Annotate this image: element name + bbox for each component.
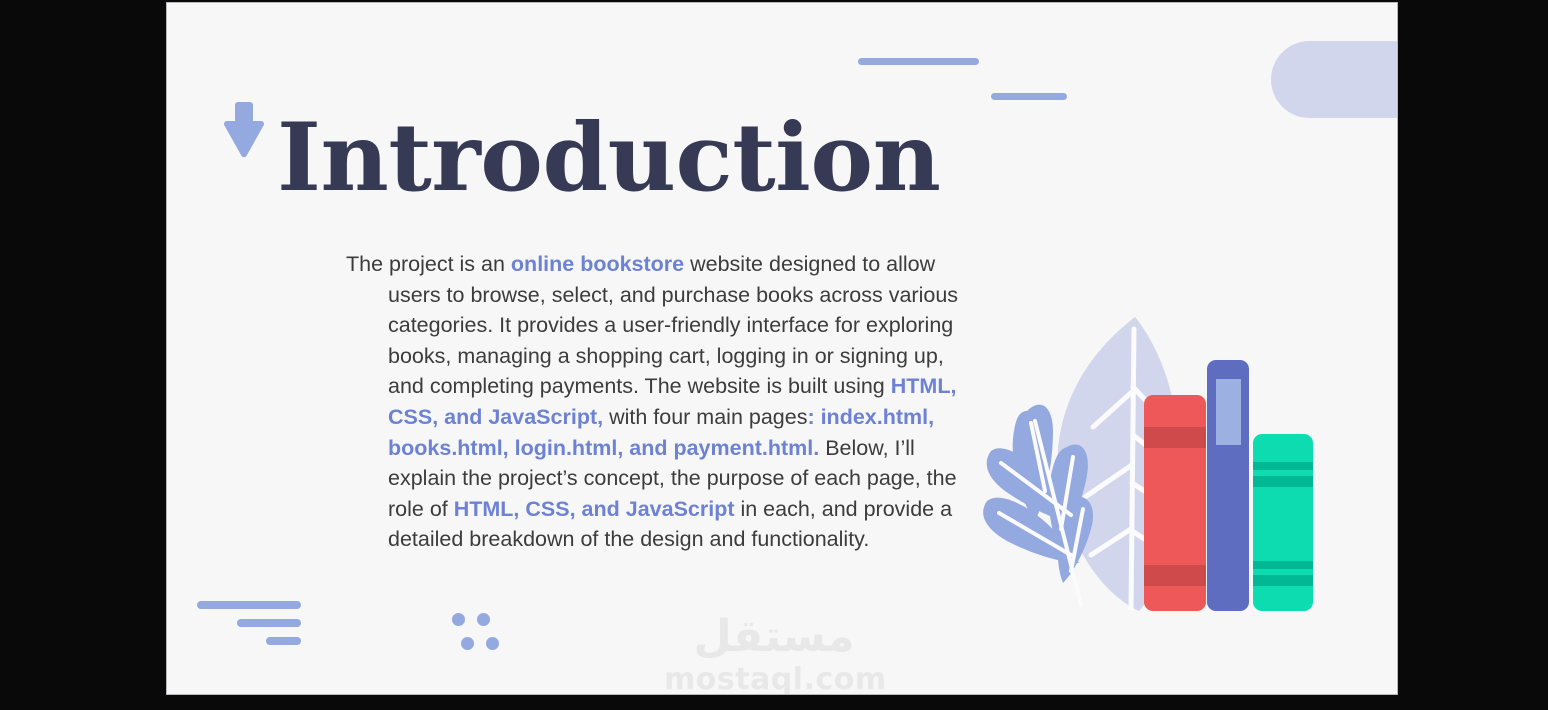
intro-body-text: The project is an online bookstore websi… [346,249,964,555]
dot-icon [486,637,499,650]
watermark-domain-text: mostaql.com [664,663,884,695]
decorative-line-top-right [991,93,1067,100]
page-title: Introduction [277,111,940,205]
dot-icon [461,637,474,650]
slide-card: Introduction The project is an online bo… [166,2,1398,695]
intro-body-highlight: online bookstore [511,252,684,276]
decorative-line [197,601,301,609]
intro-body-segment: The project is an [346,252,511,276]
watermark: مستقل mostaql.com [664,611,884,695]
dot-icon [452,613,465,626]
arrow-down-icon [222,99,266,161]
red-book-shape [1144,395,1206,611]
screen-root: Introduction The project is an online bo… [0,0,1548,710]
decorative-line [237,619,301,627]
dot-icon [477,613,490,626]
decorative-pill-shape [1271,41,1398,118]
decorative-lines-bottom-left [181,601,301,655]
watermark-arabic-text: مستقل [664,611,884,663]
decorative-line [266,637,301,645]
teal-book-shape [1253,434,1313,611]
intro-body-segment: with four main pages [603,405,807,429]
stack-of-books-illustration [973,315,1313,621]
decorative-dot-cluster [452,613,506,653]
intro-body-highlight: HTML, CSS, and JavaScript [454,497,735,521]
decorative-line-top-left [858,58,979,65]
purple-book-shape [1207,360,1249,611]
